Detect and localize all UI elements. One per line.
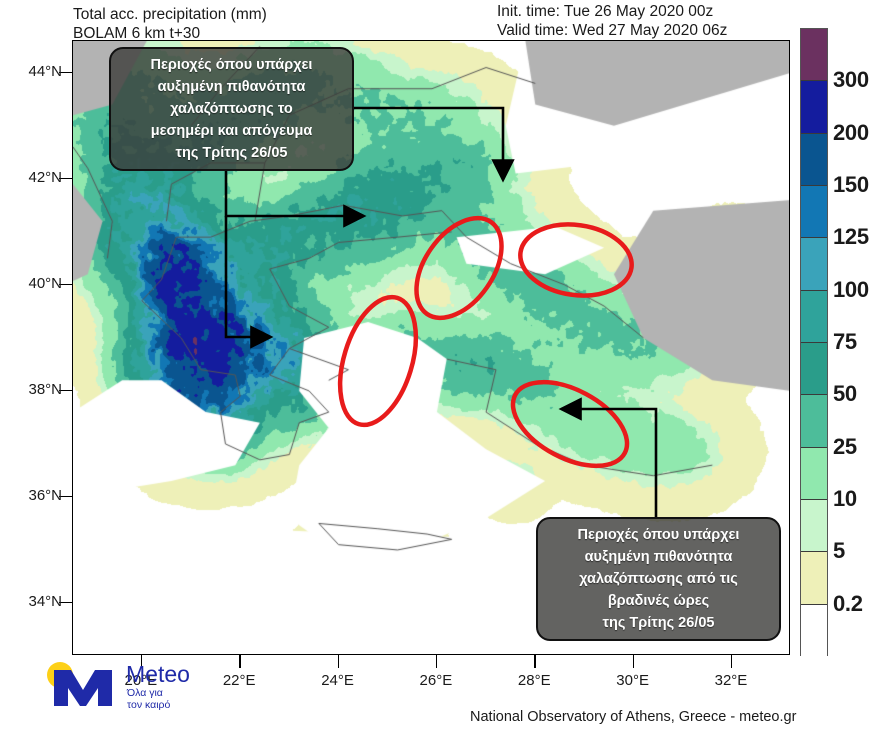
- lon-tick: [534, 655, 536, 668]
- lon-label: 24°E: [303, 672, 373, 689]
- highlight-ellipse: [326, 288, 430, 434]
- precipitation-colorbar: [800, 28, 828, 656]
- logo-tagline-line1: Όλα για: [127, 687, 170, 699]
- credit-line: National Observatory of Athens, Greece -…: [470, 709, 796, 725]
- colorbar-tick: 100: [833, 277, 869, 303]
- lon-label: 30°E: [598, 672, 668, 689]
- lon-tick: [239, 655, 241, 668]
- chart-title-line1: Total acc. precipitation (mm): [73, 6, 267, 23]
- colorbar-tick: 125: [833, 224, 869, 250]
- lat-label: 38°N: [0, 381, 62, 398]
- colorbar-segment: [801, 343, 827, 395]
- meteo-m-mark: [54, 670, 112, 706]
- colorbar-segment: [801, 500, 827, 552]
- colorbar-segment: [801, 552, 827, 604]
- lat-label: 40°N: [0, 275, 62, 292]
- colorbar-tick: 300: [833, 67, 869, 93]
- colorbar-tick: 25: [833, 434, 857, 460]
- logo-tagline-line2: τον καιρό: [127, 699, 170, 711]
- colorbar-segment: [801, 291, 827, 343]
- colorbar-tick: 5: [833, 538, 845, 564]
- highlight-ellipse: [516, 218, 637, 303]
- colorbar-segment: [801, 238, 827, 290]
- logo-wordmark: Meteo: [126, 661, 190, 688]
- lat-label: 42°N: [0, 169, 62, 186]
- colorbar-segment: [801, 395, 827, 447]
- lat-label: 36°N: [0, 487, 62, 504]
- run-time-block: Init. time: Tue 26 May 2020 00z Valid ti…: [497, 2, 727, 40]
- colorbar-segment: [801, 605, 827, 657]
- colorbar-tick: 200: [833, 120, 869, 146]
- valid-time-label: Valid time: Wed 27 May 2020 06z: [497, 22, 727, 39]
- lon-label: 26°E: [401, 672, 471, 689]
- colorbar-tick: 150: [833, 172, 869, 198]
- callout-evening-hail: Περιοχές όπου υπάρχει αυξημένη πιθανότητ…: [536, 517, 781, 641]
- colorbar-segment: [801, 134, 827, 186]
- lat-label: 44°N: [0, 63, 62, 80]
- meteo-logo[interactable]: Meteo Όλα για τον καιρό: [38, 660, 238, 712]
- init-time-label: Init. time: Tue 26 May 2020 00z: [497, 3, 713, 20]
- colorbar-segment: [801, 29, 827, 81]
- highlight-ellipse: [499, 365, 640, 483]
- lon-label: 28°E: [499, 672, 569, 689]
- highlight-ellipse: [399, 203, 519, 334]
- lon-tick: [436, 655, 438, 668]
- chart-title: Total acc. precipitation (mm) BOLAM 6 km…: [73, 5, 267, 43]
- lon-tick: [338, 655, 340, 668]
- lat-label: 34°N: [0, 593, 62, 610]
- lon-label: 32°E: [696, 672, 766, 689]
- colorbar-tick: 75: [833, 329, 857, 355]
- colorbar-tick: 0.2: [833, 591, 863, 617]
- colorbar-segment: [801, 186, 827, 238]
- callout-morning-hail: Περιοχές όπου υπάρχει αυξημένη πιθανότητ…: [109, 47, 354, 171]
- lon-tick: [633, 655, 635, 668]
- colorbar-tick: 50: [833, 381, 857, 407]
- colorbar-segment: [801, 448, 827, 500]
- colorbar-tick: 10: [833, 486, 857, 512]
- colorbar-segment: [801, 81, 827, 133]
- lon-tick: [731, 655, 733, 668]
